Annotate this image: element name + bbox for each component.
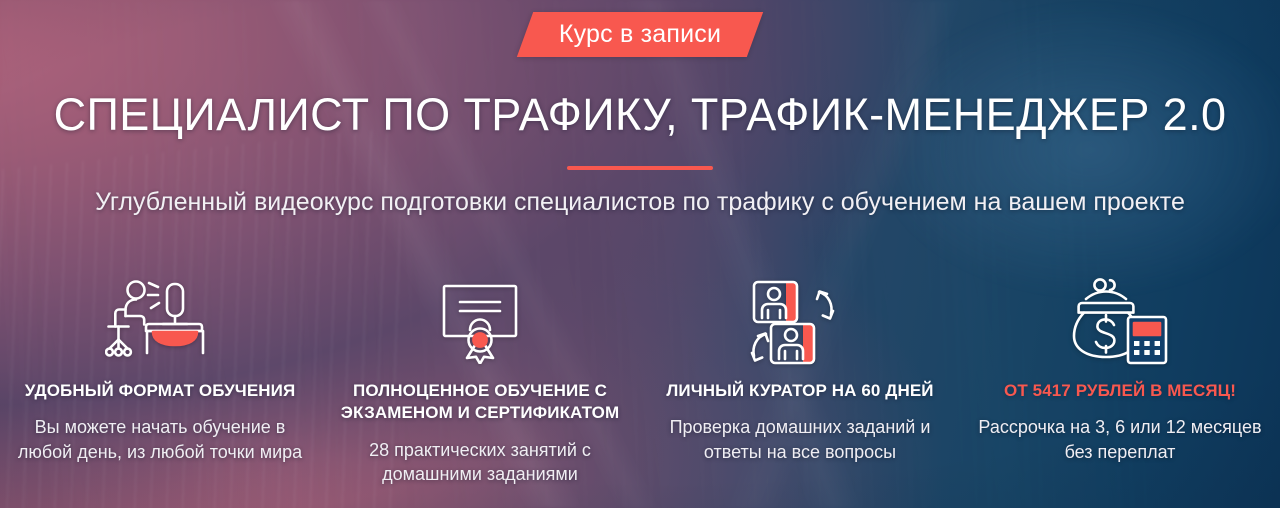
feature-title: ОТ 5417 РУБЛЕЙ В МЕСЯЦ! xyxy=(1004,380,1236,402)
people-exchange-icon xyxy=(748,278,852,364)
hero-content: Курс в записи СПЕЦИАЛИСТ ПО ТРАФИКУ, ТРА… xyxy=(0,0,1280,508)
title-divider-container xyxy=(0,166,1280,170)
purse-calculator-icon xyxy=(1068,278,1172,364)
feature-description: Рассрочка на 3, 6 или 12 месяцев без пер… xyxy=(976,415,1264,464)
feature-list: УДОБНЫЙ ФОРМАТ ОБУЧЕНИЯ Вы можете начать… xyxy=(0,278,1280,487)
certificate-award-icon xyxy=(432,278,528,364)
hero-banner: Курс в записи СПЕЦИАЛИСТ ПО ТРАФИКУ, ТРА… xyxy=(0,0,1280,508)
page-title: СПЕЦИАЛИСТ ПО ТРАФИКУ, ТРАФИК-МЕНЕДЖЕР 2… xyxy=(0,91,1280,140)
feature-item-format: УДОБНЫЙ ФОРМАТ ОБУЧЕНИЯ Вы можете начать… xyxy=(0,278,320,487)
feature-item-installment: ОТ 5417 РУБЛЕЙ В МЕСЯЦ! Рассрочка на 3, … xyxy=(960,278,1280,487)
feature-description: Вы можете начать обучение в любой день, … xyxy=(16,415,304,464)
page-subtitle: Углубленный видеокурс подготовки специал… xyxy=(60,186,1220,219)
feature-description: 28 практических занятий с домашними зада… xyxy=(336,438,624,487)
title-divider xyxy=(567,166,713,170)
feature-description: Проверка домашних заданий и ответы на вс… xyxy=(656,415,944,464)
feature-title: ПОЛНОЦЕННОЕ ОБУЧЕНИЕ С ЭКЗАМЕНОМ И СЕРТИ… xyxy=(336,380,624,425)
feature-item-curator: ЛИЧНЫЙ КУРАТОР НА 60 ДНЕЙ Проверка домаш… xyxy=(640,278,960,487)
feature-title: УДОБНЫЙ ФОРМАТ ОБУЧЕНИЯ xyxy=(25,380,296,402)
feature-item-certificate: ПОЛНОЦЕННОЕ ОБУЧЕНИЕ С ЭКЗАМЕНОМ И СЕРТИ… xyxy=(320,278,640,487)
feature-title: ЛИЧНЫЙ КУРАТОР НА 60 ДНЕЙ xyxy=(666,380,933,402)
desk-workstation-icon xyxy=(105,278,215,364)
course-format-badge: Курс в записи xyxy=(525,12,755,57)
course-badge-container: Курс в записи xyxy=(0,12,1280,57)
